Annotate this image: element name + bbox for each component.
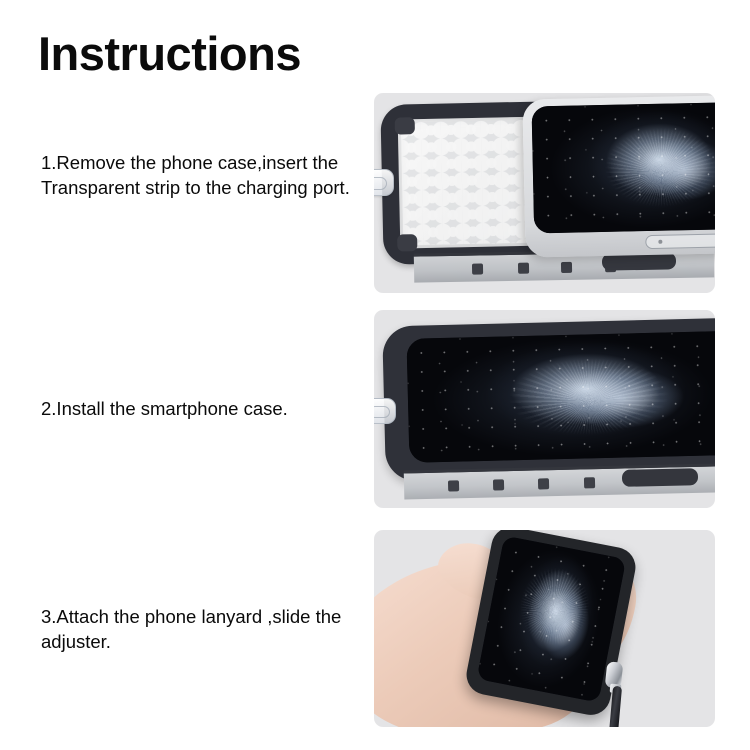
- step-2-text: 2.Install the smartphone case.: [41, 396, 361, 421]
- installed-case-scene: [374, 310, 715, 508]
- phone-screen: [406, 330, 715, 462]
- case-grip-pad: [538, 478, 549, 489]
- case-corner-pad: [397, 234, 417, 251]
- case-bottom-bumper: [622, 468, 698, 487]
- transparent-strip: [374, 169, 394, 196]
- phone-screen: [532, 101, 715, 233]
- step-3-image-panel: [374, 530, 715, 727]
- step-1-text: 1.Remove the phone case,insert the Trans…: [41, 150, 361, 200]
- case-grip-pad: [584, 477, 595, 488]
- phone-screen: [477, 536, 627, 703]
- step-2-image-panel: [374, 310, 715, 508]
- open-case-scene: [374, 93, 715, 293]
- smartphone: [522, 94, 715, 257]
- case-corner-pad: [395, 117, 415, 134]
- hand-holding-phone-scene: [374, 530, 715, 727]
- case-grip-pad: [561, 262, 572, 273]
- step-1-image-panel: [374, 93, 715, 293]
- step-3-text: 3.Attach the phone lanyard ,slide the ad…: [41, 604, 361, 654]
- phone-case-frame: [382, 318, 715, 482]
- instructions-page: Instructions 1.Remove the phone case,ins…: [0, 0, 750, 750]
- case-grip-pad: [448, 480, 459, 491]
- case-grip-pad: [472, 263, 483, 274]
- transparent-strip: [374, 398, 396, 424]
- case-grip-pad: [493, 479, 504, 490]
- blue-wave-wallpaper: [477, 536, 627, 703]
- page-title: Instructions: [38, 26, 301, 82]
- phone-speaker-slot: [645, 233, 715, 249]
- blue-wave-wallpaper: [532, 101, 715, 233]
- case-grip-pad: [518, 263, 529, 274]
- blue-wave-wallpaper: [406, 330, 715, 462]
